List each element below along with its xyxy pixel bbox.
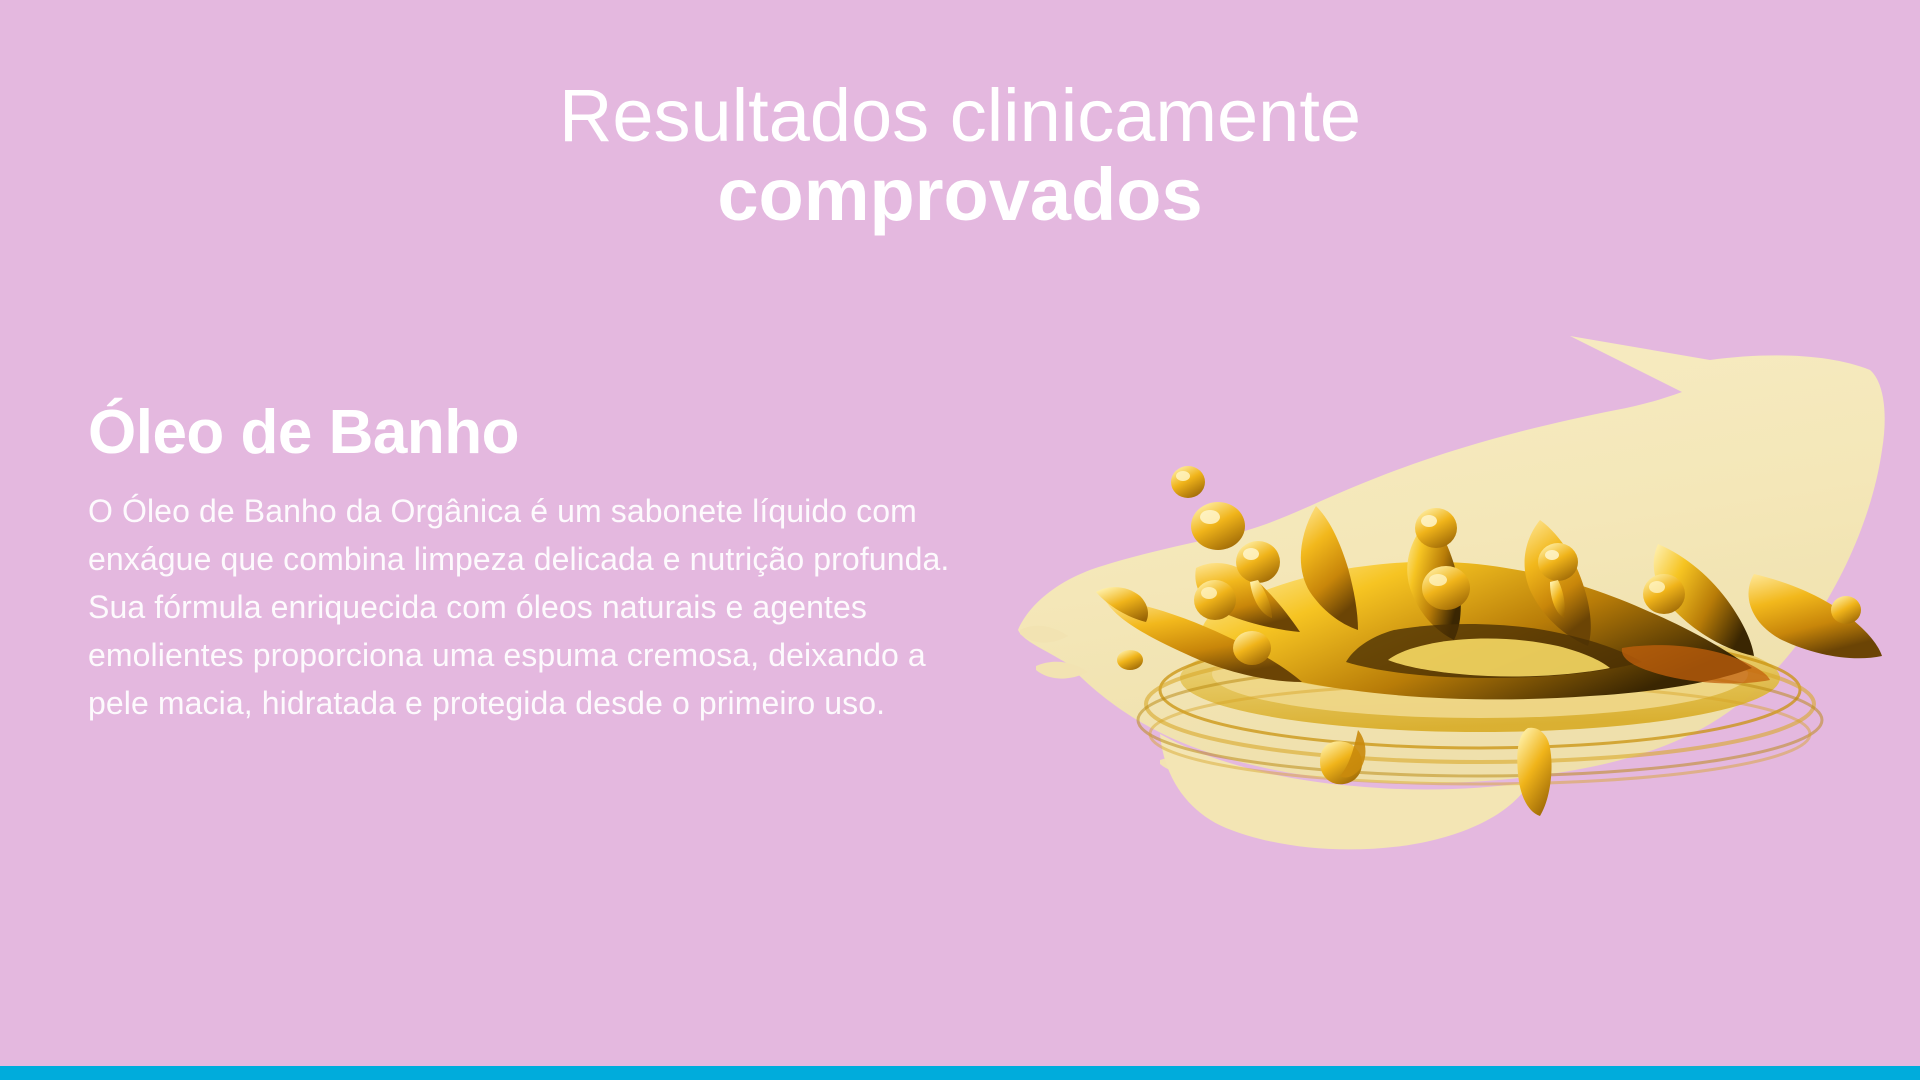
product-title: Óleo de Banho bbox=[88, 400, 1028, 465]
slide-canvas: Resultados clinicamente comprovados Óleo… bbox=[0, 0, 1920, 1080]
page-title: Resultados clinicamente comprovados bbox=[0, 78, 1920, 233]
product-description: O Óleo de Banho da Orgânica é um sabonet… bbox=[88, 487, 988, 727]
headline-line-2: comprovados bbox=[0, 157, 1920, 232]
product-artwork bbox=[1010, 330, 1890, 910]
product-copy-block: Óleo de Banho O Óleo de Banho da Orgânic… bbox=[88, 400, 1028, 727]
bottom-accent-bar bbox=[0, 1066, 1920, 1080]
headline-line-1: Resultados clinicamente bbox=[0, 78, 1920, 153]
